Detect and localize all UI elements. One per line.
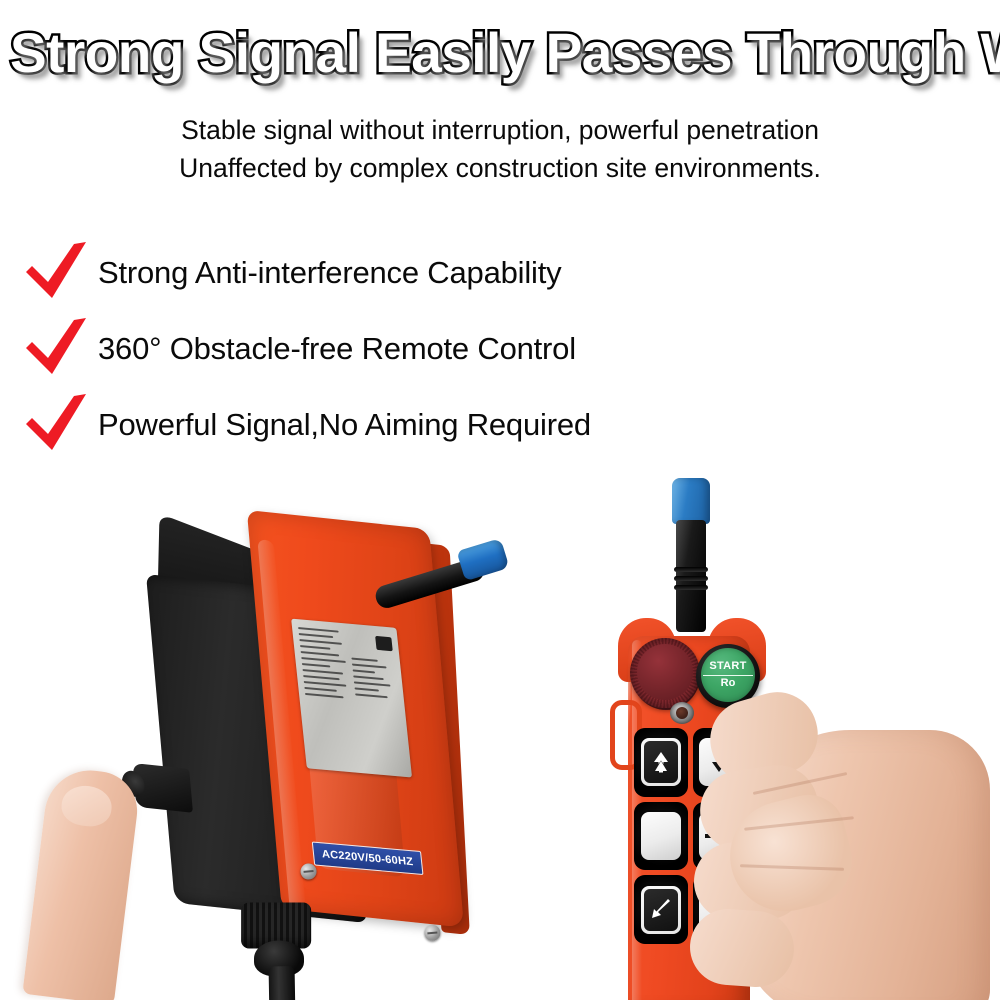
manufacturer-logo-icon [375, 636, 393, 651]
red-check-icon [22, 318, 98, 382]
start-button-label-bottom: Ro [721, 678, 736, 689]
feature-label: 360° Obstacle-free Remote Control [98, 331, 576, 369]
receiver-antenna-cap [456, 538, 509, 581]
transmitter-antenna-cap [672, 478, 710, 524]
receiver-side-connector [132, 763, 193, 813]
subtitle-line-1: Stable signal without interruption, powe… [0, 112, 1000, 150]
antenna-rib [674, 567, 708, 572]
start-button-divider [703, 675, 753, 677]
spec-nameplate [291, 619, 412, 778]
product-photo: AC220V/50-60HZ START Ro [0, 450, 1000, 1000]
feature-list: Strong Anti-interference Capability 360°… [22, 238, 882, 466]
page-title: Strong Signal Easily Passes Through Wall… [10, 24, 990, 83]
feature-label: Strong Anti-interference Capability [98, 255, 561, 293]
button-middle-left[interactable] [634, 802, 688, 871]
list-item: Strong Anti-interference Capability [22, 238, 882, 310]
power-cable [269, 966, 297, 1000]
subtitle-line-2: Unaffected by complex construction site … [0, 150, 1000, 188]
antenna-rib [674, 585, 708, 590]
finger-segment [687, 906, 796, 989]
red-check-icon [22, 394, 98, 458]
button-top-left[interactable] [634, 728, 688, 797]
red-check-icon [22, 242, 98, 306]
feature-label: Powerful Signal,No Aiming Required [98, 407, 591, 445]
start-button-label-top: START [709, 661, 746, 674]
list-item: 360° Obstacle-free Remote Control [22, 314, 882, 386]
voltage-label: AC220V/50-60HZ [321, 848, 414, 868]
antenna-rib [674, 576, 708, 581]
button-bottom-left[interactable] [634, 875, 688, 944]
emergency-stop-cap[interactable] [637, 644, 693, 700]
hand-holding-remote [700, 690, 1000, 1000]
arrow-down-left-icon [649, 899, 673, 921]
double-arrow-up-icon [652, 751, 670, 773]
fingernail [59, 783, 114, 829]
cover-screw [424, 924, 441, 941]
indicator-led [670, 702, 694, 724]
radio-receiver-unit: AC220V/50-60HZ [119, 485, 521, 1000]
subtitle-block: Stable signal without interruption, powe… [0, 112, 1000, 187]
pressing-finger [22, 765, 141, 1000]
